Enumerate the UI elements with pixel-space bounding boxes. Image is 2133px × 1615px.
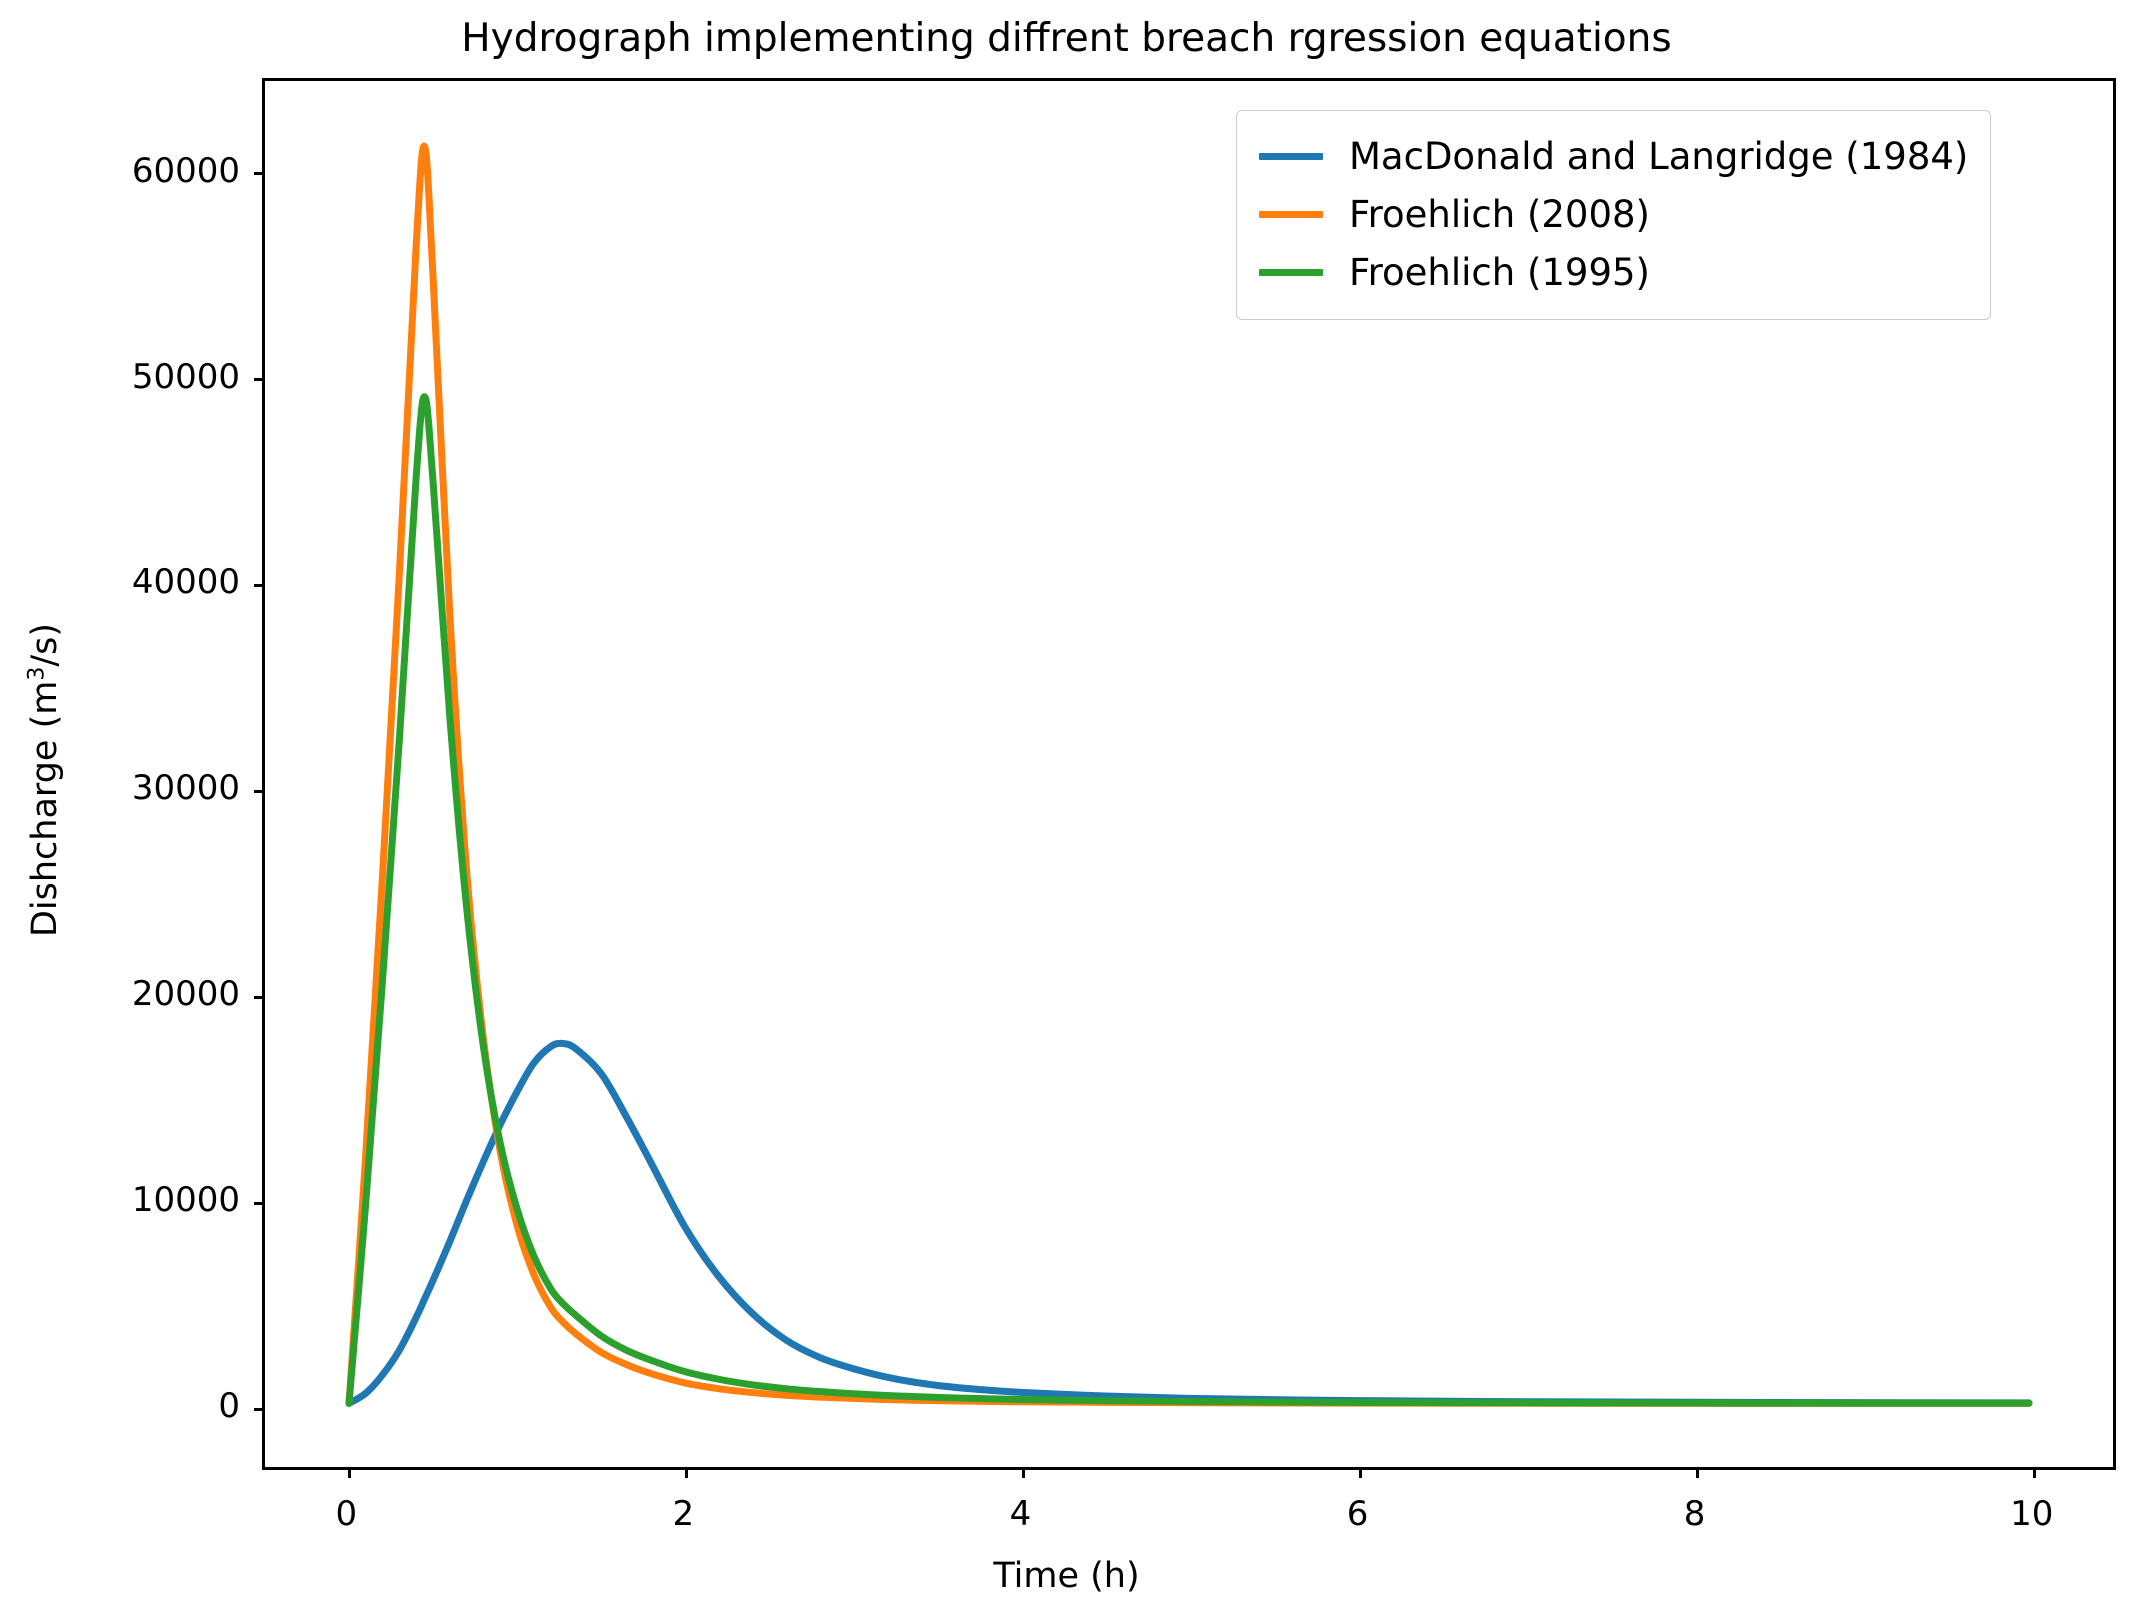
x-tick-label: 6 (1347, 1494, 1369, 1534)
y-tick-mark (254, 790, 265, 793)
legend-item[interactable]: MacDonald and Langridge (1984) (1259, 127, 1968, 185)
legend-item-label: MacDonald and Langridge (1984) (1349, 135, 1968, 178)
legend-item[interactable]: Froehlich (1995) (1259, 243, 1968, 301)
x-tick-label: 10 (2010, 1494, 2053, 1534)
x-tick-mark (1359, 1467, 1362, 1478)
x-tick-mark (1696, 1467, 1699, 1478)
x-tick-mark (685, 1467, 688, 1478)
series-line-2 (349, 146, 2029, 1403)
y-tick-label: 50000 (0, 357, 240, 397)
x-tick-mark (348, 1467, 351, 1478)
figure-canvas: Hydrograph implementing diffrent breach … (0, 0, 2133, 1615)
legend-item-label: Froehlich (2008) (1349, 193, 1650, 236)
legend-line-swatch-icon (1259, 211, 1323, 218)
legend-item[interactable]: Froehlich (2008) (1259, 185, 1968, 243)
y-tick-mark (254, 1202, 265, 1205)
y-tick-mark (254, 378, 265, 381)
x-tick-label: 8 (1684, 1494, 1706, 1534)
x-tick-mark (2033, 1467, 2036, 1478)
y-axis-label: Dishcharge (m3/s) (25, 430, 65, 1130)
y-tick-mark (254, 172, 265, 175)
y-tick-label: 60000 (0, 151, 240, 191)
y-tick-label: 0 (0, 1386, 240, 1426)
chart-title: Hydrograph implementing diffrent breach … (0, 18, 2133, 61)
legend-line-swatch-icon (1259, 269, 1323, 276)
legend[interactable]: MacDonald and Langridge (1984)Froehlich … (1236, 110, 1991, 320)
x-tick-label: 2 (673, 1494, 695, 1534)
y-tick-mark (254, 1408, 265, 1411)
legend-item-label: Froehlich (1995) (1349, 251, 1650, 294)
series-line-3 (349, 397, 2029, 1404)
x-tick-mark (1022, 1467, 1025, 1478)
x-axis-label: Time (h) (0, 1556, 2133, 1596)
y-tick-label: 10000 (0, 1180, 240, 1220)
y-tick-mark (254, 584, 265, 587)
x-tick-label: 0 (335, 1494, 357, 1534)
legend-line-swatch-icon (1259, 153, 1323, 160)
x-tick-label: 4 (1010, 1494, 1032, 1534)
y-tick-mark (254, 996, 265, 999)
